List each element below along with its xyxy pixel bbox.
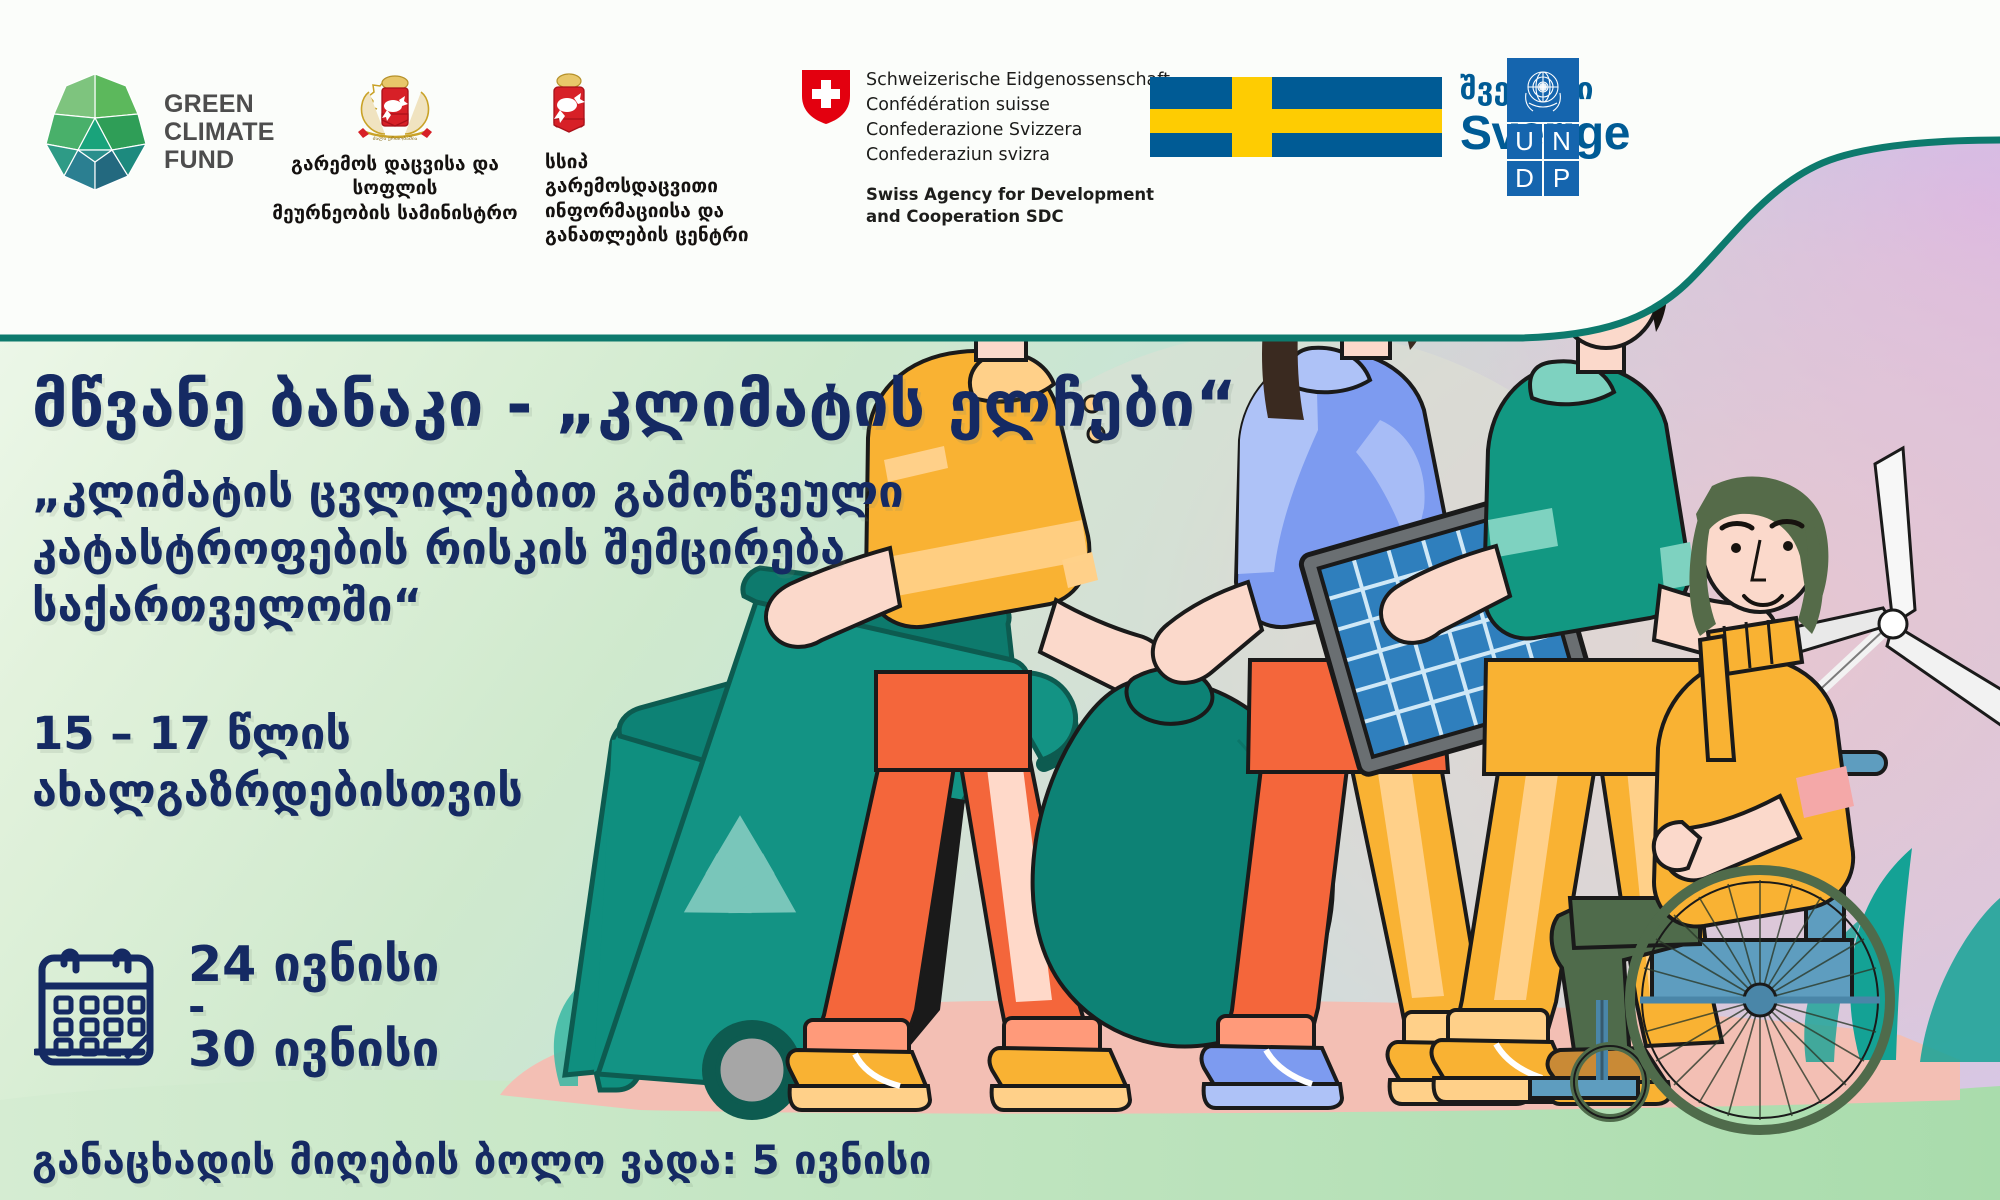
text-layer: მწვანე ბანაკი - „კლიმატის ელჩები“ „კლიმა… bbox=[0, 0, 2000, 1200]
page-title: მწვანე ბანაკი - „კლიმატის ელჩები“ bbox=[32, 368, 1237, 441]
event-dates: 24 ივნისი - 30 ივნისი bbox=[34, 940, 439, 1075]
poster-canvas: GREEN CLIMATE FUND bbox=[0, 0, 2000, 1200]
date-start: 24 ივნისი bbox=[188, 940, 439, 990]
date-end: 30 ივნისი bbox=[188, 1025, 439, 1075]
page-subtitle: „კლიმატის ცვლილებით გამოწვეული კატასტროფ… bbox=[32, 463, 904, 634]
date-range: 24 ივნისი - 30 ივნისი bbox=[188, 940, 439, 1074]
subtitle-line-3: საქართველოში“ bbox=[32, 577, 904, 634]
calendar-icon bbox=[34, 940, 162, 1075]
audience-line-1: 15 – 17 წლის bbox=[32, 705, 523, 762]
date-separator: - bbox=[188, 992, 439, 1022]
subtitle-line-2: კატასტროფების რისკის შემცირება bbox=[32, 520, 904, 577]
audience-line-2: ახალგაზრდებისთვის bbox=[32, 762, 523, 819]
subtitle-line-1: „კლიმატის ცვლილებით გამოწვეული bbox=[32, 463, 904, 520]
application-deadline: განაცხადის მიღების ბოლო ვადა: 5 ივნისი bbox=[32, 1138, 932, 1184]
audience-info: 15 – 17 წლის ახალგაზრდებისთვის bbox=[32, 705, 523, 819]
